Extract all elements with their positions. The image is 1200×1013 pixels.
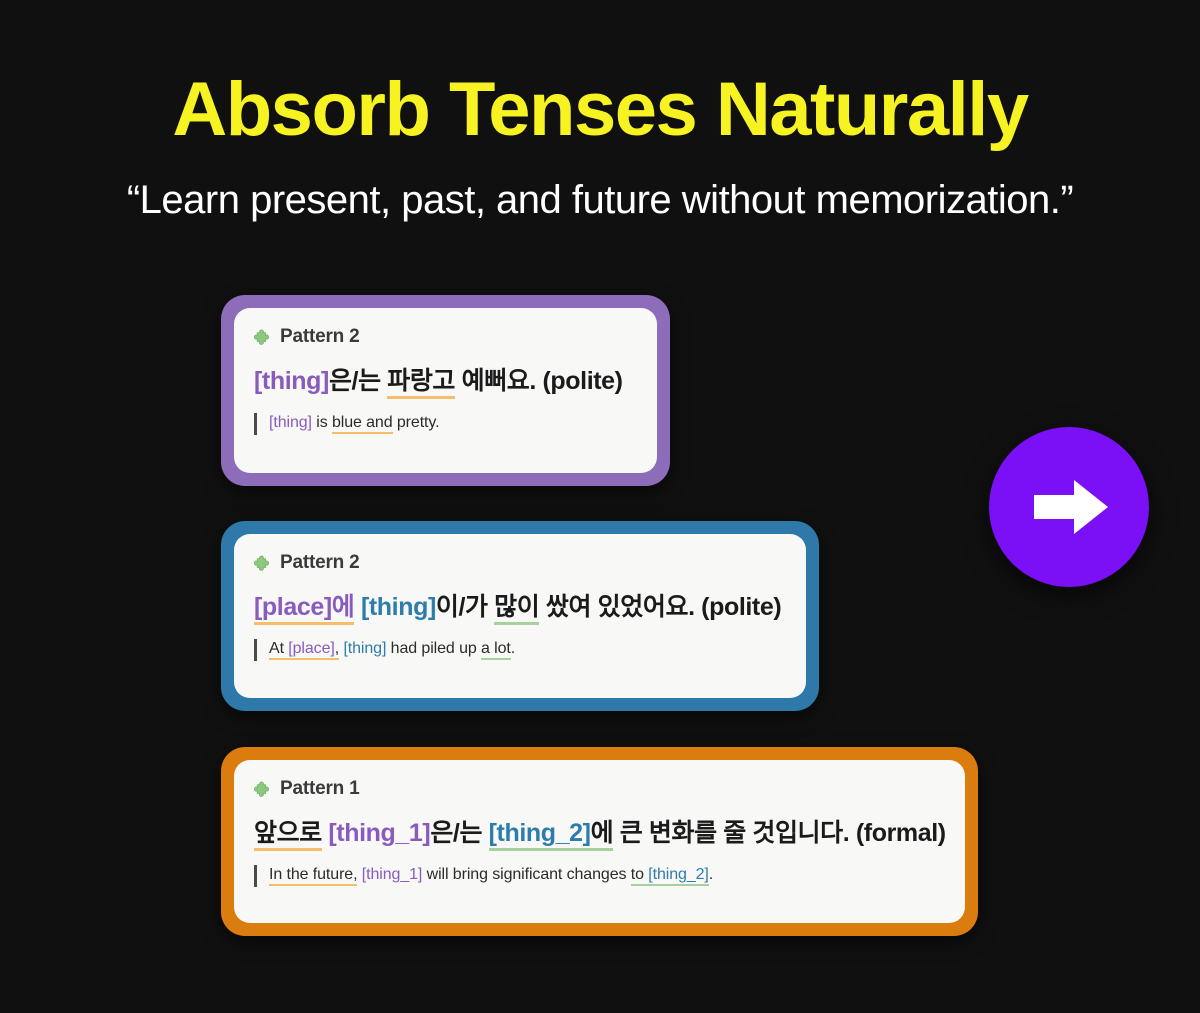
placeholder-token-thing: [thing] <box>269 414 312 431</box>
korean-particle: 이/가 <box>436 593 494 621</box>
pattern-header: Pattern 1 <box>254 776 945 802</box>
translation-part: had piled up <box>386 640 481 657</box>
pattern-header: Pattern 2 <box>254 324 637 350</box>
korean-particle: 은/는 <box>329 367 387 395</box>
pattern-label: Pattern 2 <box>280 552 360 574</box>
translation-row: At [place], [thing] had piled up a lot. <box>254 638 786 661</box>
korean-highlight-green: 많이 <box>494 593 539 625</box>
placeholder-token-thing-2: [thing_2] <box>489 819 591 851</box>
korean-sentence: [place]에 [thing]이/가 많이 쌌여 있었어요. (polite) <box>254 592 786 623</box>
translation-highlight-green: a lot <box>481 640 511 660</box>
quote-bar-icon <box>254 639 257 661</box>
header: Absorb Tenses Naturally “Learn present, … <box>0 0 1200 222</box>
placeholder-token-thing-2: [thing_2] <box>648 866 708 886</box>
pattern-header: Pattern 2 <box>254 550 786 576</box>
page-title: Absorb Tenses Naturally <box>0 72 1200 148</box>
translation-row: [thing] is blue and pretty. <box>254 412 637 435</box>
placeholder-token-thing: [thing] <box>361 593 436 621</box>
pattern-card[interactable]: Pattern 1 앞으로 [thing_1]은/는 [thing_2]에 큰 … <box>221 747 978 936</box>
page-subtitle: “Learn present, past, and future without… <box>0 148 1200 222</box>
placeholder-token-thing: [thing] <box>254 367 329 395</box>
translation-part: will bring significant changes <box>422 866 630 883</box>
pattern-label: Pattern 1 <box>280 778 360 800</box>
pattern-card[interactable]: Pattern 2 [place]에 [thing]이/가 많이 쌌여 있었어요… <box>221 521 819 711</box>
puzzle-piece-icon <box>254 328 273 347</box>
pattern-card-surface: Pattern 2 [thing]은/는 파랑고 예뻐요. (polite) [… <box>234 308 657 473</box>
translation-sentence: [thing] is blue and pretty. <box>269 412 439 434</box>
translation-highlight-green: to <box>631 866 649 886</box>
pattern-card[interactable]: Pattern 2 [thing]은/는 파랑고 예뻐요. (polite) [… <box>221 295 670 486</box>
translation-tail: . <box>511 640 515 657</box>
placeholder-token-thing: [thing] <box>343 640 386 657</box>
next-button[interactable] <box>989 427 1149 587</box>
korean-tail: 쌌여 있었어요. (polite) <box>539 593 781 621</box>
korean-tail: 예뻐요. (polite) <box>455 367 623 395</box>
korean-highlight-green: 에 <box>591 819 614 851</box>
pattern-label: Pattern 2 <box>280 326 360 348</box>
korean-highlight-orange: 파랑고 <box>387 367 455 399</box>
korean-sentence: 앞으로 [thing_1]은/는 [thing_2]에 큰 변화를 줄 것입니다… <box>254 818 945 849</box>
placeholder-token-thing-1: [thing_1] <box>362 866 422 883</box>
puzzle-piece-icon <box>254 780 273 799</box>
pattern-card-surface: Pattern 2 [place]에 [thing]이/가 많이 쌌여 있었어요… <box>234 534 806 698</box>
translation-highlight-orange: In the future, <box>269 866 357 886</box>
translation-highlight-orange: At <box>269 640 288 660</box>
translation-tail: . <box>709 866 713 883</box>
translation-sentence: At [place], [thing] had piled up a lot. <box>269 638 515 660</box>
translation-sentence: In the future, [thing_1] will bring sign… <box>269 864 713 886</box>
korean-tail: 큰 변화를 줄 것입니다. (formal) <box>613 819 946 847</box>
placeholder-token-place: [place] <box>288 640 334 660</box>
quote-bar-icon <box>254 865 257 887</box>
translation-part: is <box>312 414 332 431</box>
quote-bar-icon <box>254 413 257 435</box>
puzzle-piece-icon <box>254 554 273 573</box>
placeholder-token-place: [place]에 <box>254 593 354 625</box>
korean-particle: 은/는 <box>430 819 488 847</box>
translation-row: In the future, [thing_1] will bring sign… <box>254 864 945 887</box>
arrow-right-icon <box>1026 472 1112 542</box>
placeholder-token-thing-1: [thing_1] <box>328 819 430 847</box>
korean-sentence: [thing]은/는 파랑고 예뻐요. (polite) <box>254 366 637 397</box>
translation-highlight-orange: blue and <box>332 414 393 434</box>
pattern-card-surface: Pattern 1 앞으로 [thing_1]은/는 [thing_2]에 큰 … <box>234 760 965 923</box>
translation-tail: pretty. <box>393 414 440 431</box>
korean-highlight-orange: 앞으로 <box>254 819 322 851</box>
